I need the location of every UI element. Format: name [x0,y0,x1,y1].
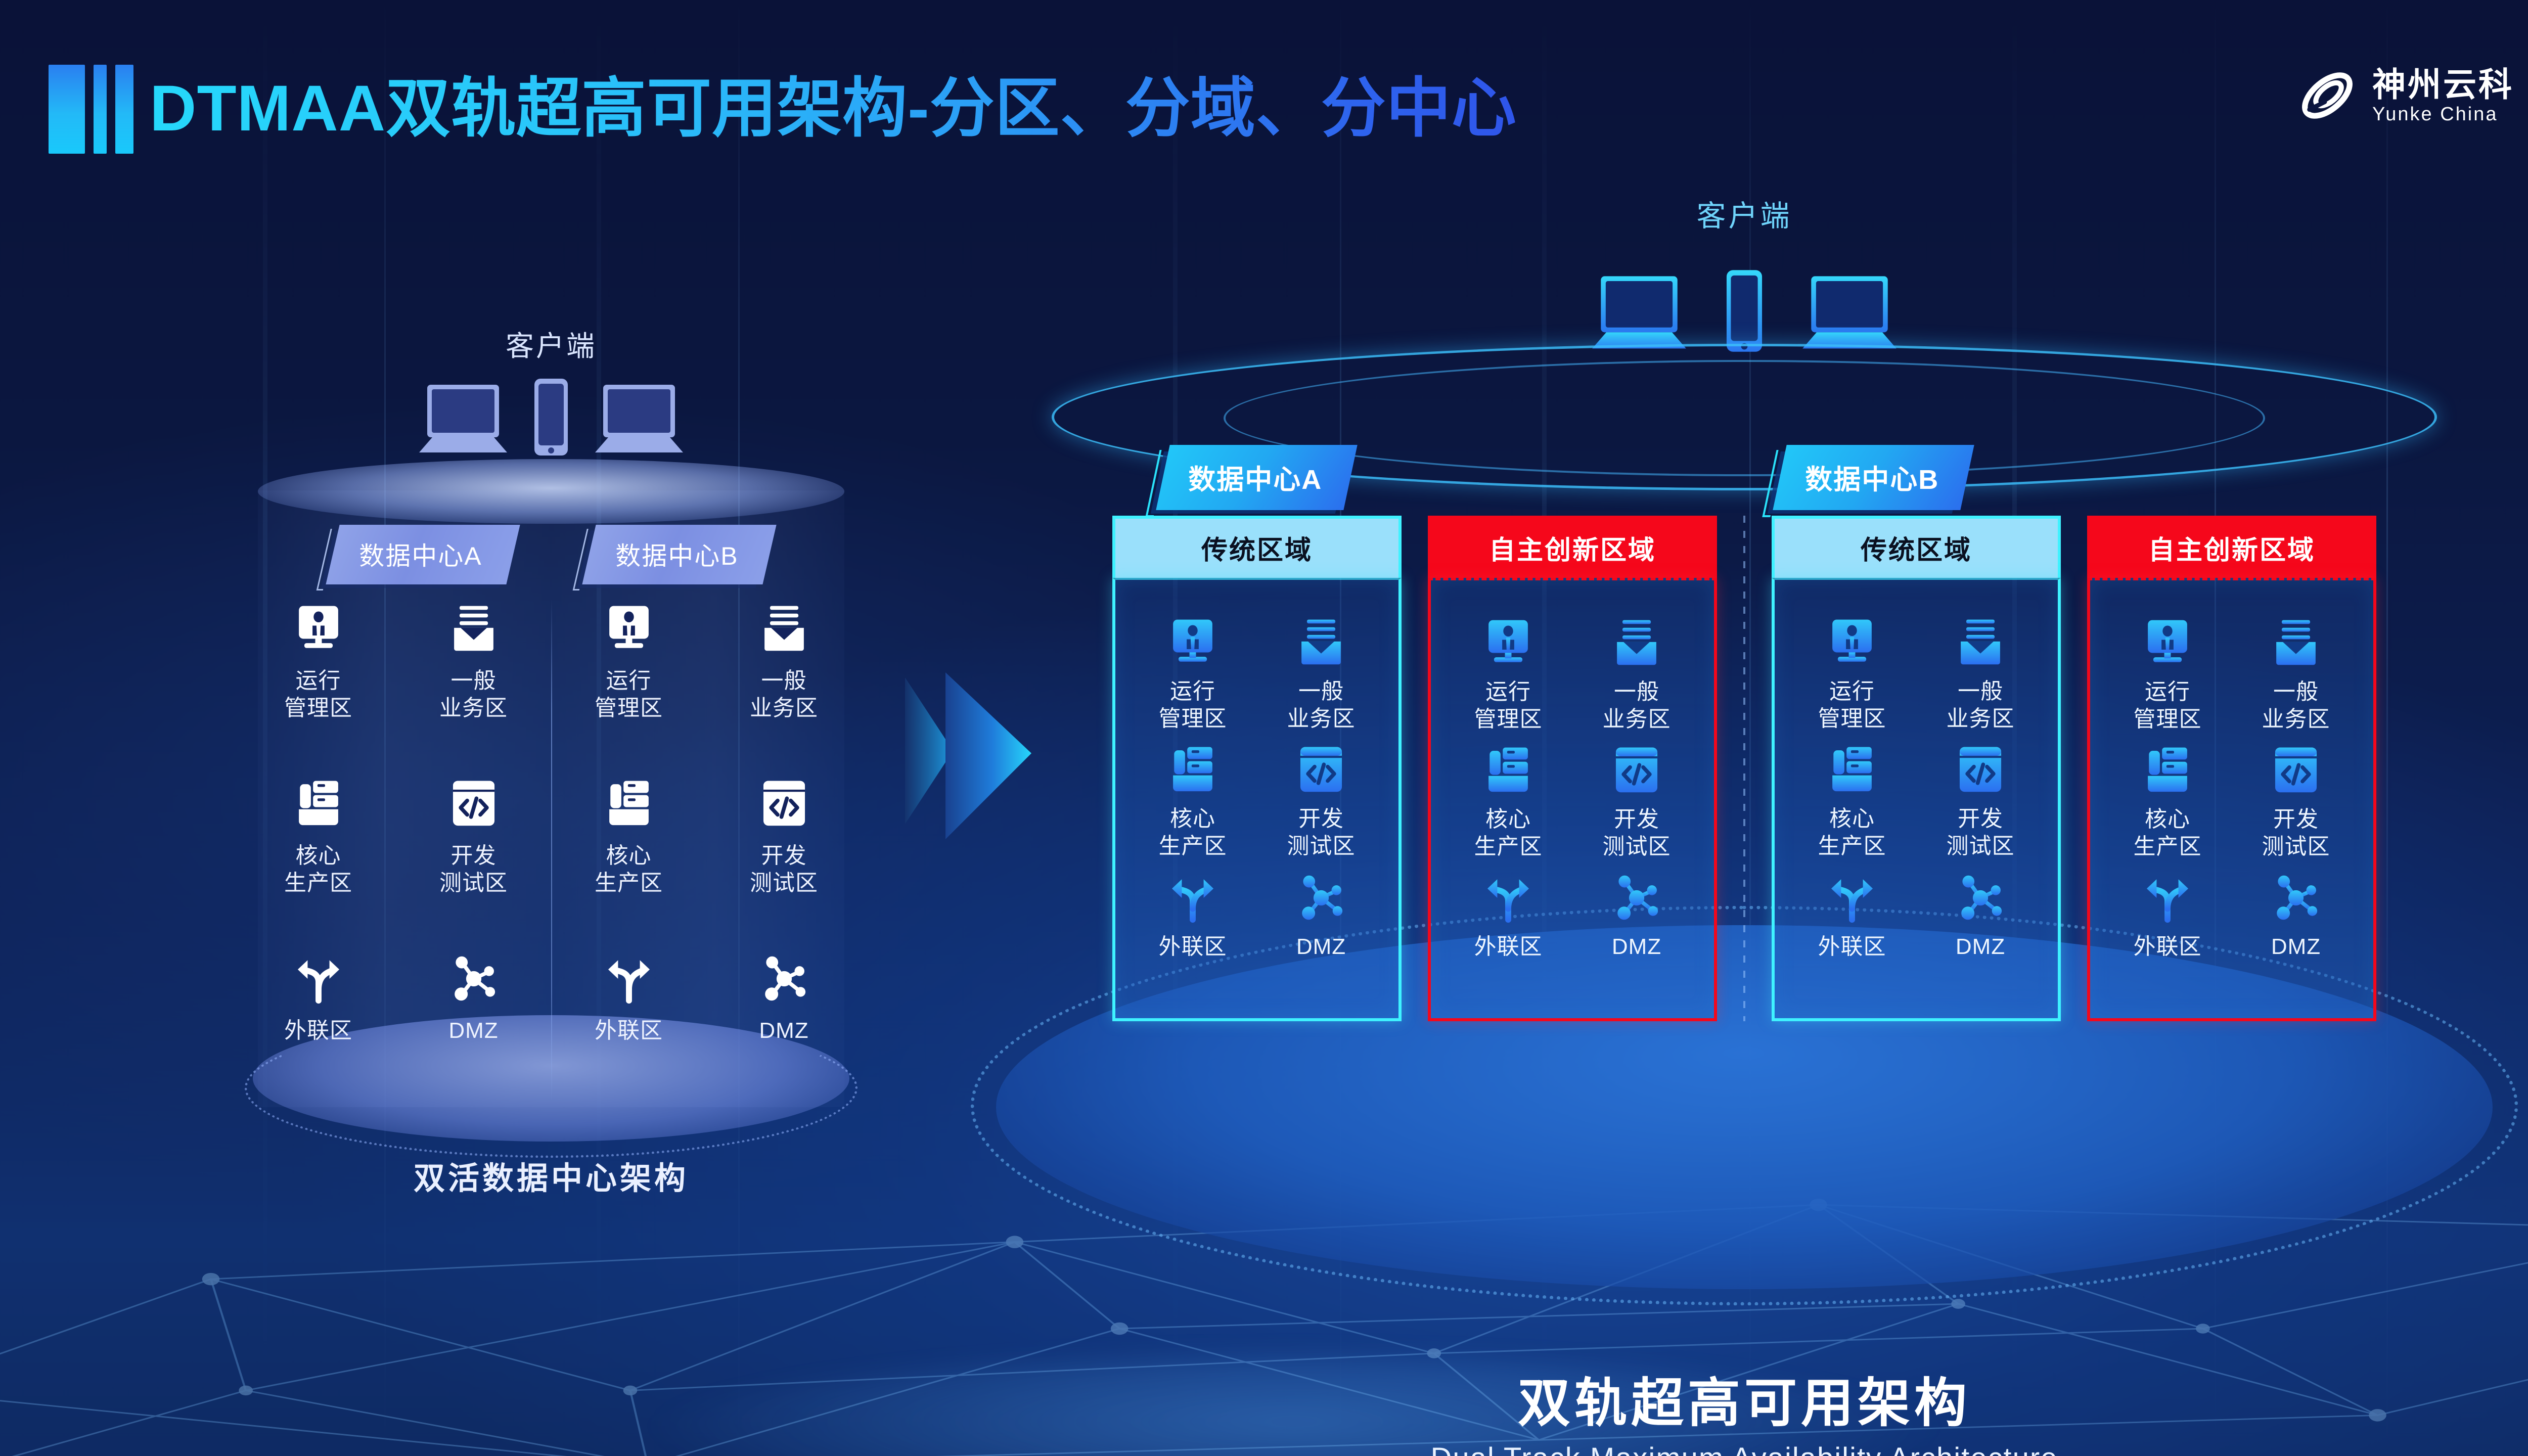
laptop-icon [591,382,687,458]
right-zone-label: 一般业务区 [2262,678,2330,733]
laptop-icon [1796,273,1903,354]
right-column-body: 运行管理区一般业务区核心生产区开发测试区外联区DMZ [2087,578,2376,1021]
server-stack-icon [2140,743,2195,798]
branch-arrows-icon [1825,871,1879,925]
right-datacenter-badge-b[interactable]: 数据中心B [1773,445,1974,510]
right-zone-item[interactable]: 外联区 [1444,871,1572,961]
right-zone-label: 开发测试区 [1287,805,1356,860]
monitor-user-icon [1481,616,1536,670]
code-window-icon [2269,743,2323,798]
left-zone-item[interactable]: 一般业务区 [416,602,532,722]
inbox-tray-icon [2269,616,2323,670]
right-zone-label: 外联区 [2134,933,2202,961]
right-zone-label: 外联区 [1474,933,1543,961]
right-datacenter-badge-b-wrap: 数据中心B [1780,445,1967,510]
right-zone-column-innovation: 自主创新区域运行管理区一般业务区核心生产区开发测试区外联区DMZ [2087,516,2376,1021]
code-window-icon [757,777,811,831]
phone-icon [1723,268,1766,354]
right-zone-label: 开发测试区 [1947,805,2015,860]
server-stack-icon [291,777,346,831]
network-nodes-icon [1294,871,1348,925]
left-zone-item[interactable]: 开发测试区 [416,777,532,897]
left-zone-label: 外联区 [595,1017,663,1044]
right-zone-column-traditional: 传统区域运行管理区一般业务区核心生产区开发测试区外联区DMZ [1112,516,1402,1021]
inbox-tray-icon [1294,615,1348,670]
branch-arrows-icon [291,951,346,1006]
right-column-header[interactable]: 自主创新区域 [1428,516,1717,578]
branch-arrows-icon [2140,871,2195,925]
left-zone-item[interactable]: 核心生产区 [260,777,377,897]
left-zone-item[interactable]: DMZ [416,951,532,1044]
server-stack-icon [2140,743,2195,798]
right-zone-label: 核心生产区 [1159,805,1227,860]
network-nodes-icon [1953,871,2008,925]
server-stack-icon [1165,743,1220,797]
monitor-user-icon [1825,615,1879,670]
right-column-header[interactable]: 自主创新区域 [2087,516,2376,578]
left-zone-item[interactable]: 开发测试区 [726,777,842,897]
left-zone-item[interactable]: 外联区 [260,951,377,1044]
code-window-icon [1953,743,2008,797]
right-zone-item[interactable]: 外联区 [2103,871,2232,961]
network-nodes-icon [1609,871,1664,925]
right-column-header[interactable]: 传统区域 [1772,516,2061,578]
left-zone-item[interactable]: 一般业务区 [726,602,842,722]
branch-arrows-icon [291,951,346,1006]
right-client-label: 客户端 [1036,192,2452,235]
network-nodes-icon [757,951,811,1006]
right-zone-item[interactable]: 运行管理区 [2103,616,2232,733]
phone-icon [531,377,571,458]
right-caption-en: Dual Track Maximum Availability Architec… [1036,1439,2452,1456]
right-zone-item[interactable]: 开发测试区 [2232,743,2360,860]
right-zone-label: 外联区 [1159,933,1227,961]
code-window-icon [446,777,501,831]
left-datacenter-b-label: 数据中心B [615,536,738,572]
brand-logo: 神州云科 Yunke China [2295,64,2514,127]
left-zone-label: 一般业务区 [750,667,818,722]
inbox-tray-icon [757,602,811,656]
right-zone-label: DMZ [1296,933,1346,961]
laptop-icon [1586,273,1692,354]
server-stack-icon [1481,743,1536,798]
right-zone-label: 运行管理区 [2134,678,2202,733]
monitor-user-icon [2140,616,2195,670]
code-window-icon [757,777,811,831]
left-zone-label: 核心生产区 [595,842,663,897]
server-stack-icon [291,777,346,831]
monitor-user-icon [291,602,346,656]
inbox-tray-icon [2269,616,2323,670]
right-zone-columns: 传统区域运行管理区一般业务区核心生产区开发测试区外联区DMZ自主创新区域运行管理… [1112,516,2376,1021]
branch-arrows-icon [602,951,656,1006]
right-zone-item[interactable]: 开发测试区 [1572,743,1701,860]
right-zone-label: 核心生产区 [1818,805,1886,860]
left-zone-label: 一般业务区 [439,667,508,722]
right-zone-label: 外联区 [1818,933,1886,961]
monitor-user-icon [2140,616,2195,670]
inbox-tray-icon [1609,616,1664,670]
network-nodes-icon [1953,871,2008,925]
left-zone-item[interactable]: 外联区 [571,951,687,1044]
branch-arrows-icon [1165,871,1220,925]
monitor-user-icon [1165,615,1220,670]
right-zone-item[interactable]: 核心生产区 [1128,743,1257,860]
monitor-user-icon [602,602,656,656]
right-zone-item[interactable]: 开发测试区 [1257,743,1385,860]
right-client-devices [1586,268,1903,354]
left-caption: 双活数据中心架构 [192,1153,910,1198]
logo-text-en: Yunke China [2372,104,2514,125]
branch-arrows-icon [1825,871,1879,925]
left-client-devices [415,377,687,458]
right-datacenter-badge-a-wrap: 数据中心A [1163,445,1350,510]
server-stack-icon [1825,743,1879,797]
left-datacenter-badges: 数据中心A 数据中心B [192,525,910,584]
left-zone-item[interactable]: 核心生产区 [571,777,687,897]
right-zone-label: 核心生产区 [1474,806,1543,860]
right-zone-item[interactable]: 运行管理区 [1444,616,1572,733]
code-window-icon [1953,743,2008,797]
right-zone-item[interactable]: 一般业务区 [1916,615,2045,733]
network-nodes-icon [2269,871,2323,925]
right-zone-item[interactable]: 核心生产区 [2103,743,2232,860]
right-zone-item[interactable]: 一般业务区 [1572,616,1701,733]
inbox-tray-icon [446,602,501,656]
right-zone-label: 运行管理区 [1474,678,1543,733]
right-zone-item[interactable]: 核心生产区 [1788,743,1916,860]
monitor-user-icon [602,602,656,656]
inbox-tray-icon [446,602,501,656]
right-zone-item[interactable]: 核心生产区 [1444,743,1572,860]
right-zone-label: DMZ [2271,933,2321,961]
network-nodes-icon [446,951,501,1006]
code-window-icon [1609,743,1664,798]
right-caption: 双轨超高可用架构 Dual Track Maximum Availability… [1036,1372,2452,1456]
left-zone-label: 开发测试区 [439,842,508,897]
right-zone-label: DMZ [1612,933,1661,961]
right-zone-label: 一般业务区 [1947,678,2015,733]
left-datacenter-a-label: 数据中心A [359,536,482,572]
code-window-icon [2269,743,2323,798]
right-zone-item[interactable]: 外联区 [1128,871,1257,961]
branch-arrows-icon [1481,871,1536,925]
network-nodes-icon [1609,871,1664,925]
right-zone-item[interactable]: DMZ [1572,871,1701,961]
server-stack-icon [1825,743,1879,797]
server-stack-icon [602,777,656,831]
right-zone-item[interactable]: 开发测试区 [1916,743,2045,860]
left-zone-label: 运行管理区 [284,667,352,722]
right-client-ring-inner [1224,360,2265,476]
network-nodes-icon [1294,871,1348,925]
left-zone-label: 外联区 [284,1017,352,1044]
right-zone-item[interactable]: 运行管理区 [1788,615,1916,733]
left-datacenter-badge-b[interactable]: 数据中心B [582,525,777,584]
inbox-tray-icon [1953,615,2008,670]
right-zone-item[interactable]: 一般业务区 [1257,615,1385,733]
left-zone-label: DMZ [759,1017,808,1044]
monitor-user-icon [1165,615,1220,670]
right-caption-cn: 双轨超高可用架构 [1036,1372,2452,1435]
code-window-icon [1609,743,1664,798]
branch-arrows-icon [602,951,656,1006]
branch-arrows-icon [1481,871,1536,925]
right-column-body: 运行管理区一般业务区核心生产区开发测试区外联区DMZ [1772,578,2061,1021]
right-zone-column-innovation: 自主创新区域运行管理区一般业务区核心生产区开发测试区外联区DMZ [1428,516,1717,1021]
server-stack-icon [1481,743,1536,798]
inbox-tray-icon [757,602,811,656]
network-nodes-icon [2269,871,2323,925]
branch-arrows-icon [1165,871,1220,925]
title-accent-bars [49,65,133,154]
left-zone-label: DMZ [448,1017,498,1044]
monitor-user-icon [1481,616,1536,670]
inbox-tray-icon [1609,616,1664,670]
left-zone-label: 运行管理区 [595,667,663,722]
right-column-header[interactable]: 传统区域 [1112,516,1402,578]
right-zone-label: 运行管理区 [1818,678,1886,733]
branch-arrows-icon [2140,871,2195,925]
network-nodes-icon [446,951,501,1006]
left-client-label: 客户端 [192,324,910,365]
right-zone-item[interactable]: DMZ [2232,871,2360,961]
left-architecture-panel: 客户端 数据中心A 数据中心B 运行管理区一般业务区运行管理区一般业务区核心生产… [192,324,910,1234]
logo-text-cn: 神州云科 [2372,66,2514,103]
left-zone-item[interactable]: DMZ [726,951,842,1044]
right-zone-label: 开发测试区 [2262,806,2330,860]
right-zone-column-traditional: 传统区域运行管理区一般业务区核心生产区开发测试区外联区DMZ [1772,516,2061,1021]
left-zone-label: 核心生产区 [284,842,352,897]
swirl-logo-icon [2295,64,2359,127]
left-zone-item[interactable]: 运行管理区 [260,602,377,722]
inbox-tray-icon [1294,615,1348,670]
right-zone-label: 运行管理区 [1159,678,1227,733]
page-title: DTMAA双轨超高可用架构-分区、分域、分中心 [150,62,1517,156]
left-zone-grid: 运行管理区一般业务区运行管理区一般业务区核心生产区开发测试区核心生产区开发测试区… [241,602,862,1044]
code-window-icon [1294,743,1348,797]
right-zone-label: 核心生产区 [2134,806,2202,860]
datacenter-separator [1743,516,1745,1021]
left-datacenter-badge-a[interactable]: 数据中心A [326,525,520,584]
inbox-tray-icon [1953,615,2008,670]
right-zone-item[interactable]: 运行管理区 [1128,615,1257,733]
right-datacenter-a-label: 数据中心A [1188,457,1322,497]
laptop-icon [415,382,511,458]
left-zone-label: 开发测试区 [750,842,818,897]
right-zone-item[interactable]: DMZ [1257,871,1385,961]
network-nodes-icon [757,951,811,1006]
code-window-icon [1294,743,1348,797]
left-zone-item[interactable]: 运行管理区 [571,602,687,722]
page-header: DTMAA双轨超高可用架构-分区、分域、分中心 神州云科 Yunke China [0,0,2528,172]
right-zone-label: 一般业务区 [1287,678,1356,733]
server-stack-icon [1165,743,1220,797]
right-datacenter-b-label: 数据中心B [1805,457,1939,497]
monitor-user-icon [291,602,346,656]
right-column-body: 运行管理区一般业务区核心生产区开发测试区外联区DMZ [1112,578,1402,1021]
right-zone-label: DMZ [1956,933,2005,961]
right-zone-item[interactable]: 外联区 [1788,871,1916,961]
right-zone-label: 开发测试区 [1603,806,1671,860]
right-datacenter-badge-a[interactable]: 数据中心A [1156,445,1357,510]
monitor-user-icon [1825,615,1879,670]
right-architecture-panel: 客户端 数据中心A 数据中心B 传统区 [1036,192,2452,1365]
right-zone-item[interactable]: DMZ [1916,871,2045,961]
code-window-icon [446,777,501,831]
right-zone-item[interactable]: 一般业务区 [2232,616,2360,733]
right-column-body: 运行管理区一般业务区核心生产区开发测试区外联区DMZ [1428,578,1717,1021]
right-zone-label: 一般业务区 [1603,678,1671,733]
server-stack-icon [602,777,656,831]
